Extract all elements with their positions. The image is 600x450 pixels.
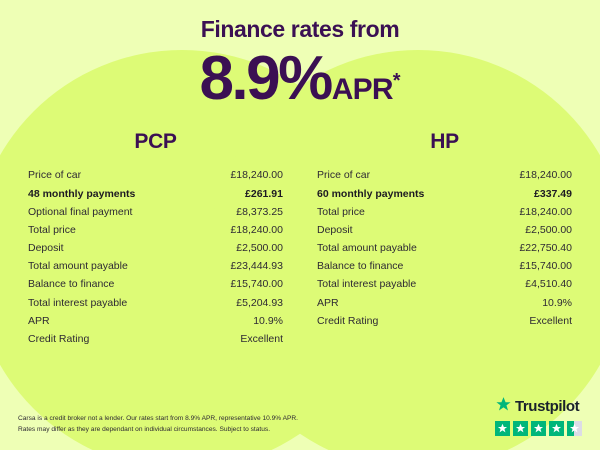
row-value: £5,204.93 — [199, 294, 283, 312]
table-row: Total price£18,240.00 — [28, 221, 283, 239]
row-value: £2,500.00 — [488, 221, 572, 239]
row-label: Deposit — [317, 221, 488, 239]
trustpilot-star-4 — [549, 421, 565, 437]
finance-tables: PCP Price of car£18,240.0048 monthly pay… — [0, 130, 600, 348]
row-value: Excellent — [488, 312, 572, 330]
trustpilot-rating[interactable]: Trustpilot — [495, 396, 586, 437]
row-label: Total price — [28, 221, 199, 239]
row-value: £8,373.25 — [199, 203, 283, 221]
table-row: Credit RatingExcellent — [28, 330, 283, 348]
table-row: 48 monthly payments£261.91 — [28, 184, 283, 202]
table-row: Deposit£2,500.00 — [28, 239, 283, 257]
row-label: Total amount payable — [28, 257, 199, 275]
row-value: £15,740.00 — [199, 275, 283, 293]
trustpilot-star-2 — [513, 421, 529, 437]
table-title-pcp: PCP — [28, 130, 283, 154]
trustpilot-wordmark: Trustpilot — [515, 398, 579, 415]
row-value: £18,240.00 — [199, 221, 283, 239]
row-label: Optional final payment — [28, 203, 199, 221]
row-label: Price of car — [317, 166, 488, 184]
row-label: 48 monthly payments — [28, 184, 199, 202]
table-row: Total interest payable£5,204.93 — [28, 294, 283, 312]
row-label: Total interest payable — [317, 275, 488, 293]
row-value: £23,444.93 — [199, 257, 283, 275]
disclaimer: Carsa is a credit broker not a lender. O… — [18, 413, 298, 436]
table-row: Total amount payable£23,444.93 — [28, 257, 283, 275]
rate-display: 8.9% APR * — [0, 47, 600, 110]
row-label: APR — [317, 294, 488, 312]
row-label: Total price — [317, 203, 488, 221]
row-label: Balance to finance — [28, 275, 199, 293]
table-row: Deposit£2,500.00 — [317, 221, 572, 239]
row-label: Credit Rating — [317, 312, 488, 330]
table-row: 60 monthly payments£337.49 — [317, 184, 572, 202]
row-label: Total interest payable — [28, 294, 199, 312]
rate-value: 8.9% — [199, 47, 330, 110]
row-value: £337.49 — [488, 184, 572, 202]
table-row: Balance to finance£15,740.00 — [28, 275, 283, 293]
row-value: £2,500.00 — [199, 239, 283, 257]
disclaimer-line-2: Rates may differ as they are dependant o… — [18, 424, 298, 436]
row-label: 60 monthly payments — [317, 184, 488, 202]
trustpilot-star-5 — [567, 421, 583, 437]
table-row: Total amount payable£22,750.40 — [317, 239, 572, 257]
trustpilot-star-3 — [531, 421, 547, 437]
finance-table-pcp: PCP Price of car£18,240.0048 monthly pay… — [28, 130, 283, 348]
row-label: APR — [28, 312, 199, 330]
finance-table-hp: HP Price of car£18,240.0060 monthly paym… — [317, 130, 572, 348]
table-row: Total interest payable£4,510.40 — [317, 275, 572, 293]
row-value: 10.9% — [488, 294, 572, 312]
trustpilot-star-1 — [495, 421, 511, 437]
table-row: Price of car£18,240.00 — [317, 166, 572, 184]
hp-table: Price of car£18,240.0060 monthly payment… — [317, 166, 572, 330]
table-row: APR10.9% — [28, 312, 283, 330]
rate-unit: APR — [332, 73, 393, 107]
table-row: Price of car£18,240.00 — [28, 166, 283, 184]
page-title: Finance rates from — [0, 16, 600, 43]
row-value: 10.9% — [199, 312, 283, 330]
row-value: £18,240.00 — [488, 166, 572, 184]
row-value: £18,240.00 — [199, 166, 283, 184]
table-row: Credit RatingExcellent — [317, 312, 572, 330]
rate-footnote-asterisk: * — [393, 71, 401, 91]
row-value: £261.91 — [199, 184, 283, 202]
trustpilot-logo: Trustpilot — [495, 396, 579, 418]
row-label: Deposit — [28, 239, 199, 257]
trustpilot-star-icon — [495, 396, 512, 418]
table-row: Balance to finance£15,740.00 — [317, 257, 572, 275]
finance-rates-banner: Finance rates from 8.9% APR * PCP Price … — [0, 0, 600, 450]
table-row: Total price£18,240.00 — [317, 203, 572, 221]
header: Finance rates from 8.9% APR * — [0, 0, 600, 110]
row-value: £22,750.40 — [488, 239, 572, 257]
table-title-hp: HP — [317, 130, 572, 154]
row-value: Excellent — [199, 330, 283, 348]
row-value: £4,510.40 — [488, 275, 572, 293]
row-label: Balance to finance — [317, 257, 488, 275]
row-value: £18,240.00 — [488, 203, 572, 221]
table-row: APR10.9% — [317, 294, 572, 312]
disclaimer-line-1: Carsa is a credit broker not a lender. O… — [18, 413, 298, 425]
row-label: Credit Rating — [28, 330, 199, 348]
footer: Carsa is a credit broker not a lender. O… — [0, 396, 600, 450]
pcp-table: Price of car£18,240.0048 monthly payment… — [28, 166, 283, 348]
trustpilot-stars — [495, 421, 582, 437]
table-row: Optional final payment£8,373.25 — [28, 203, 283, 221]
row-label: Total amount payable — [317, 239, 488, 257]
row-value: £15,740.00 — [488, 257, 572, 275]
row-label: Price of car — [28, 166, 199, 184]
